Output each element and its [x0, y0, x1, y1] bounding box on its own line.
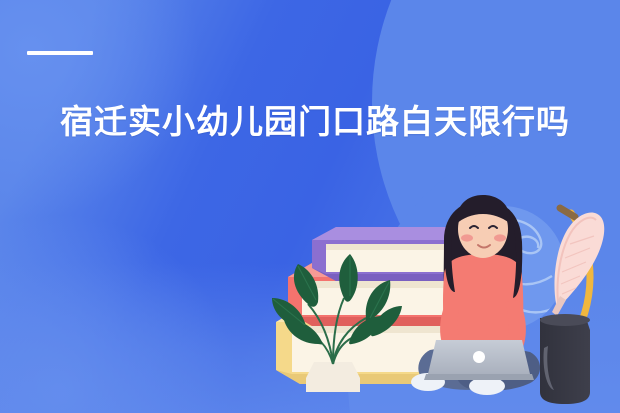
page-title: 宿迁实小幼儿园门口路白天限行吗 — [60, 100, 620, 144]
poster-canvas: 宿迁实小幼儿园门口路白天限行吗 — [0, 0, 620, 413]
title-accent-rule — [27, 51, 93, 55]
background-bottom-wash — [0, 263, 620, 413]
